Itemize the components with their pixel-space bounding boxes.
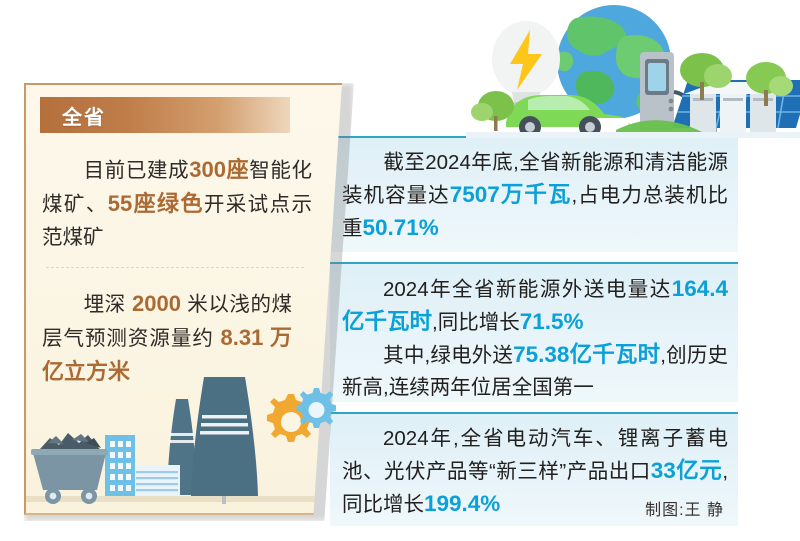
province-badge-label: 全省 <box>62 101 106 130</box>
gear-cluster-illustration <box>258 386 336 458</box>
gear-icon-blue <box>297 388 337 428</box>
rb2-highlight-green-export: 75.38亿千瓦时 <box>513 342 660 367</box>
lp1-highlight-55: 55 <box>108 191 132 216</box>
rb3-highlight-growth: 199.4% <box>424 491 500 516</box>
lp2-seg2: 米 <box>187 293 208 316</box>
lp2-highlight-831: 8.31 <box>220 325 263 350</box>
lp2-seg5: 万 <box>270 325 292 350</box>
rb1-highlight-capacity: 7507万千瓦 <box>450 182 572 207</box>
rb2-text: 2024年全省新能源外送电量达164.4亿千瓦时,同比增长71.5% 其中,绿电… <box>330 264 738 413</box>
cooling-tower-large-icon <box>191 377 258 496</box>
right-block-green-power-export: 2024年全省新能源外送电量达164.4亿千瓦时,同比增长71.5% 其中,绿电… <box>330 262 738 402</box>
province-badge: 全省 <box>40 97 290 133</box>
right-block-new-three-exports: 2024年,全省电动汽车、锂离子蓄电池、光伏产品等“新三样”产品出口33亿元,同… <box>330 412 738 526</box>
rb2-line4a: 新高,连续两年位居全国第一 <box>342 376 594 399</box>
lp1-seg1: 目前已建成 <box>83 159 189 182</box>
left-paragraph-coal-mines: 目前已建成300座智能化煤矿、55座绿色开采试点示范煤矿 <box>42 153 312 254</box>
rb1-highlight-share: 50.71% <box>363 215 439 240</box>
rb2-highlight-growth: 71.5% <box>520 309 584 334</box>
left-panel-divider <box>46 267 304 268</box>
right-block-installed-capacity: 截至2024年底,全省新能源和清洁能源装机容量达7507万千瓦,占电力总装机比重… <box>330 136 738 252</box>
rb3-highlight-exports: 33亿元 <box>651 458 723 483</box>
rb2-line3a: 其中,绿电外送 <box>383 344 513 367</box>
rb2-highlight-unit: 千瓦时 <box>365 309 433 334</box>
green-energy-illustration <box>466 0 800 142</box>
lp2-seg4: 资源量约 <box>128 327 214 350</box>
lp2-highlight-2000: 2000 <box>132 291 181 316</box>
infographic-canvas: 全省 目前已建成300座智能化煤矿、55座绿色开采试点示范煤矿 埋深 2000 … <box>0 0 800 541</box>
rb2-line1a: 2024年全省新能源外送电量达 <box>383 278 672 301</box>
coal-cart-icon <box>31 433 108 504</box>
rb3-line2a: 产品等“新三样”产品出口 <box>426 460 651 483</box>
lp1-seg2: 座 <box>226 157 249 182</box>
credit-text: 制图:王 静 <box>645 496 724 520</box>
lp1-seg4: 座绿色 <box>132 191 204 216</box>
lp2-seg1: 埋深 <box>83 293 126 316</box>
low-building-icon <box>134 465 180 496</box>
cart-body <box>33 453 106 490</box>
rb1-line2b: ,占电力总 <box>571 184 664 207</box>
rb1-text: 截至2024年底,全省新能源和清洁能源装机容量达7507万千瓦,占电力总装机比重… <box>330 138 738 254</box>
rb2-line3b: ,创历史 <box>660 344 728 367</box>
rb2-line2a: ,同比增长 <box>432 311 520 334</box>
rb1-line1: 截至2024年底,全省新能源和清洁 <box>383 151 687 174</box>
ground-strip <box>26 496 342 502</box>
lp1-highlight-300: 300 <box>189 157 226 182</box>
